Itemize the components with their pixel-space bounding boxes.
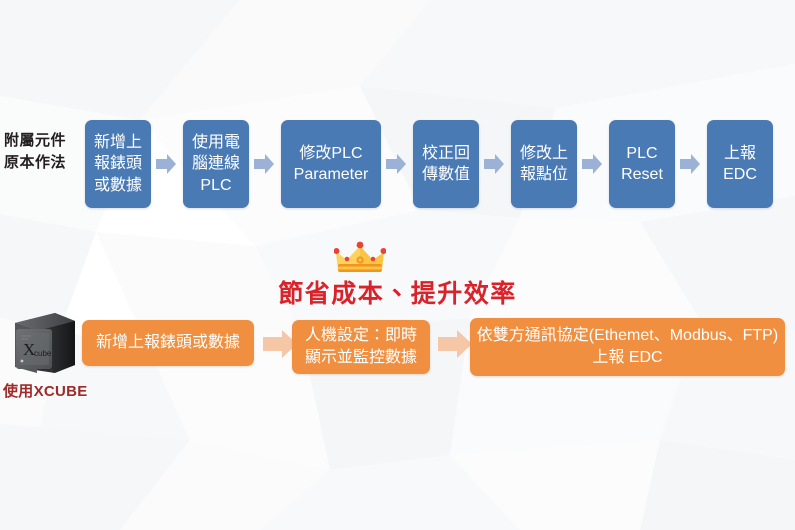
xcube-row-label: 使用XCUBE — [3, 380, 95, 401]
legacy-step-modify-plc-parameter[interactable]: 修改PLC Parameter — [281, 120, 381, 208]
legacy-row-label-line-1: 附屬元件 — [4, 130, 86, 152]
step-text-line: 腦連線 — [192, 153, 240, 174]
diagram-canvas: 附屬元件 原本作法 新增上 報錶頭 或數據 使用電 腦連線 PLC 修改PLC … — [0, 0, 795, 530]
step-text-line: 新增上報錶頭或數據 — [96, 332, 240, 354]
step-text-line: 或數據 — [94, 175, 142, 196]
arrow-right-icon — [253, 152, 275, 176]
step-text-line: 修改上 — [520, 143, 568, 164]
legacy-step-calibrate-return-value[interactable]: 校正回 傳數值 — [413, 120, 479, 208]
xcube-step-protocol-report-edc[interactable]: 依雙方通訊協定(Ethemet、Modbus、FTP) 上報 EDC — [470, 318, 785, 376]
step-text-line: PLC — [621, 143, 663, 164]
step-text-line: 上報 — [723, 143, 757, 164]
xcube-step-hmi-realtime-display[interactable]: 人機設定：即時 顯示並監控數據 — [292, 320, 430, 374]
step-text-line: 新增上 — [94, 132, 142, 153]
step-text-line: 報錶頭 — [94, 153, 142, 174]
step-text-line: 顯示並監控數據 — [305, 347, 417, 369]
step-text-line: Reset — [621, 164, 663, 185]
arrow-right-icon — [581, 152, 603, 176]
arrow-right-icon — [679, 152, 701, 176]
legacy-step-add-meter-or-data[interactable]: 新增上 報錶頭 或數據 — [85, 120, 151, 208]
savings-headline: 節省成本、提升效率 — [0, 274, 795, 310]
legacy-step-plc-reset[interactable]: PLC Reset — [609, 120, 675, 208]
legacy-row-label-line-2: 原本作法 — [4, 152, 86, 174]
xcube-step-add-meter-or-data[interactable]: 新增上報錶頭或數據 — [82, 320, 254, 366]
svg-text:cube: cube — [34, 349, 52, 358]
xcube-device-icon: X cube — [9, 309, 79, 377]
step-text-line: 使用電 — [192, 132, 240, 153]
step-text-line: EDC — [723, 164, 757, 185]
arrow-right-icon — [385, 152, 407, 176]
step-text-line: 報點位 — [520, 164, 568, 185]
step-text-line: Parameter — [294, 164, 369, 185]
crown-icon — [334, 240, 386, 276]
legacy-step-report-edc[interactable]: 上報 EDC — [707, 120, 773, 208]
step-text-line: 依雙方通訊協定(Ethemet、Modbus、FTP) — [477, 325, 778, 347]
step-text-line: 人機設定：即時 — [305, 325, 417, 347]
step-text-line: 校正回 — [422, 143, 470, 164]
step-text-line: 傳數值 — [422, 164, 470, 185]
arrow-right-icon — [437, 327, 473, 361]
arrow-right-icon — [155, 152, 177, 176]
step-text-line: 上報 EDC — [477, 347, 778, 369]
step-text-line: 修改PLC — [294, 143, 369, 164]
step-text-line: PLC — [192, 175, 240, 196]
legacy-row-label: 附屬元件 原本作法 — [4, 130, 86, 174]
legacy-step-modify-report-points[interactable]: 修改上 報點位 — [511, 120, 577, 208]
arrow-right-icon — [483, 152, 505, 176]
legacy-step-connect-pc-to-plc[interactable]: 使用電 腦連線 PLC — [183, 120, 249, 208]
